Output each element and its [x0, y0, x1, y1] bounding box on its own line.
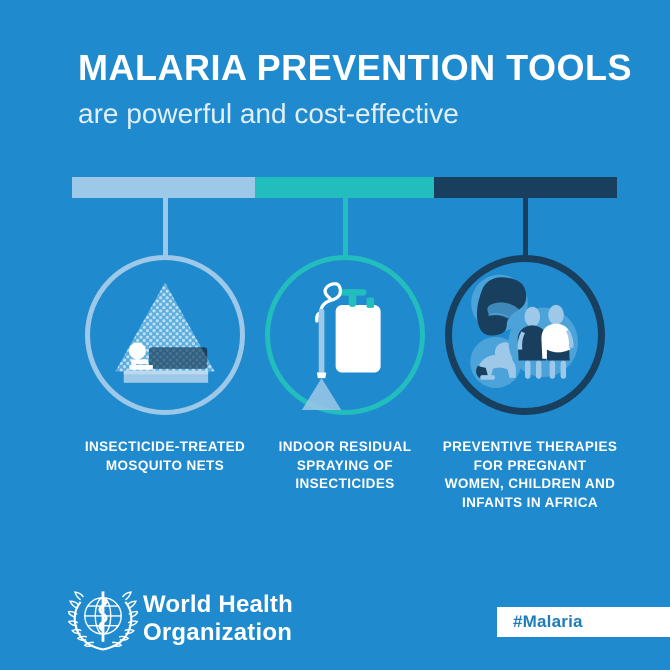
organization-line-2: Organization [143, 619, 293, 647]
bar-segment-spraying [255, 177, 434, 198]
hashtag-bar: #Malaria [497, 607, 670, 637]
connector-line-nets [163, 198, 168, 258]
insecticide-sprayer-icon [270, 260, 420, 410]
tool-circle-spraying [265, 255, 425, 415]
caption-line: INFANTS IN AFRICA [423, 494, 637, 513]
caption-line: INDOOR RESIDUAL [257, 438, 433, 457]
caption-line: MOSQUITO NETS [45, 457, 285, 476]
connector-line-spraying [343, 198, 348, 258]
connector-line-therapies [523, 198, 528, 258]
caption-line: SPRAYING OF [257, 457, 433, 476]
bar-segment-therapies [434, 177, 617, 198]
caption-therapies: PREVENTIVE THERAPIES FOR PREGNANT WOMEN,… [423, 438, 637, 513]
hashtag-label: #Malaria [513, 612, 583, 632]
bar-segment-nets [72, 177, 255, 198]
page-title: MALARIA PREVENTION TOOLS [78, 50, 632, 86]
page-subtitle: are powerful and cost-effective [78, 98, 459, 130]
tool-circle-therapies [445, 255, 605, 415]
caption-line: INSECTICIDE-TREATED [45, 438, 285, 457]
segmented-bar [72, 177, 617, 198]
caption-line: PREVENTIVE THERAPIES [423, 438, 637, 457]
tool-circle-nets [85, 255, 245, 415]
mosquito-net-bed-icon [90, 260, 240, 410]
caption-line: FOR PREGNANT [423, 457, 637, 476]
who-emblem-icon [68, 583, 138, 653]
caption-spraying: INDOOR RESIDUAL SPRAYING OF INSECTICIDES [257, 438, 433, 494]
infographic-canvas: MALARIA PREVENTION TOOLS are powerful an… [0, 0, 670, 670]
organization-name: World Health Organization [143, 591, 293, 647]
caption-nets: INSECTICIDE-TREATED MOSQUITO NETS [45, 438, 285, 475]
organization-line-1: World Health [143, 591, 293, 619]
caption-line: INSECTICIDES [257, 475, 433, 494]
caption-line: WOMEN, CHILDREN AND [423, 475, 637, 494]
pregnant-woman-children-icon [452, 262, 598, 408]
